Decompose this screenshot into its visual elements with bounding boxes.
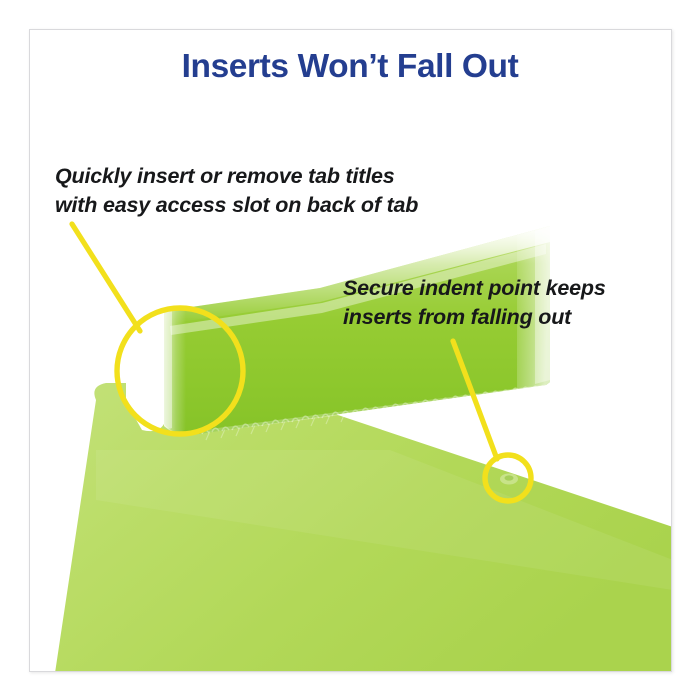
- product-photo-frame: [29, 29, 672, 672]
- page-title: Inserts Won’t Fall Out: [0, 49, 700, 86]
- callout-text-indent-point-line-2: inserts from falling out: [343, 303, 606, 332]
- callout-text-access-slot: Quickly insert or remove tab titles with…: [55, 162, 418, 219]
- product-photo: [30, 30, 671, 671]
- callout-text-access-slot-line-1: Quickly insert or remove tab titles: [55, 162, 418, 191]
- callout-text-indent-point: Secure indent point keeps inserts from f…: [343, 274, 606, 331]
- product-feature-callout-image: Inserts Won’t Fall Out Quickly insert or…: [0, 0, 700, 700]
- callout-text-access-slot-line-2: with easy access slot on back of tab: [55, 191, 418, 220]
- callout-text-indent-point-line-1: Secure indent point keeps: [343, 274, 606, 303]
- tab-access-slot: [126, 302, 186, 432]
- secure-indent-point: [500, 474, 518, 485]
